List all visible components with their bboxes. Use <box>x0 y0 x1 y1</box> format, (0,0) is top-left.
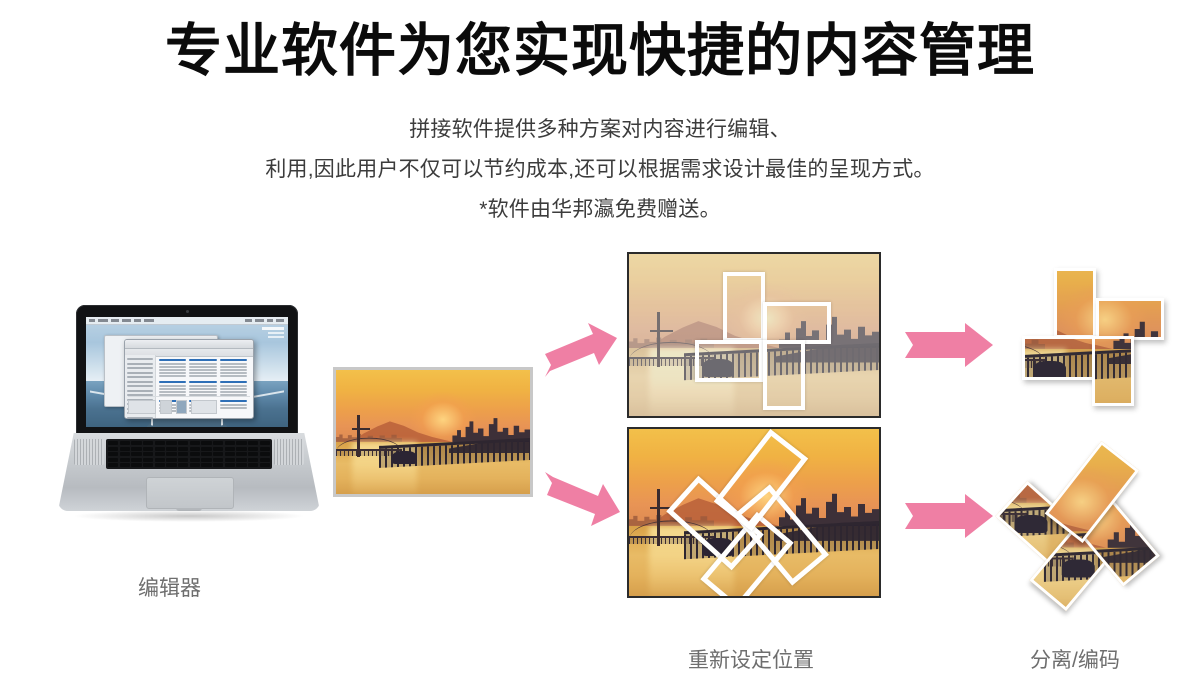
laptop-shadow <box>72 510 306 522</box>
webcam-icon <box>186 310 189 313</box>
laptop-keyboard <box>106 439 272 469</box>
selection-rect-2[interactable] <box>763 302 831 344</box>
speaker-grille-left <box>74 439 104 465</box>
selection-rect-4[interactable] <box>763 340 805 410</box>
tile-4[interactable] <box>1092 336 1134 406</box>
arrow-right-icon-bottom <box>903 493 995 539</box>
browser-window <box>124 339 254 419</box>
macbook-editor-illustration <box>58 305 320 530</box>
infographic-page: 专业软件为您实现快捷的内容管理 拼接软件提供多种方案对内容进行编辑、 利用,因此… <box>0 0 1200 697</box>
board-grid-selection <box>627 252 881 418</box>
laptop-trackpad <box>146 477 234 509</box>
caption-split-encode: 分离/编码 <box>1030 644 1120 674</box>
exploded-tiles-rotated <box>1012 448 1182 603</box>
sunset-bridge-scene <box>336 370 530 494</box>
subtitle-line-1: 拼接软件提供多种方案对内容进行编辑、 <box>0 113 1200 143</box>
arrow-down-right-icon <box>541 462 625 530</box>
page-title: 专业软件为您实现快捷的内容管理 <box>0 20 1200 83</box>
selection-rect-3[interactable] <box>695 340 763 382</box>
board-rotated-selection <box>627 427 881 598</box>
caption-editor: 编辑器 <box>138 572 201 602</box>
exploded-tiles-grid <box>1022 268 1182 418</box>
source-photo <box>333 367 533 497</box>
caption-reposition: 重新设定位置 <box>688 644 814 674</box>
tile-2[interactable] <box>1096 298 1164 340</box>
tile-1[interactable] <box>1054 268 1096 338</box>
arrow-up-right-icon <box>541 321 621 387</box>
selection-rect-1[interactable] <box>723 272 765 342</box>
arrow-right-icon-top <box>903 322 995 368</box>
subtitle-line-3: *软件由华邦瀛免费赠送。 <box>0 193 1200 223</box>
laptop-lid <box>76 305 298 436</box>
subtitle-line-2: 利用,因此用户不仅可以节约成本,还可以根据需求设计最佳的呈现方式。 <box>0 153 1200 183</box>
speaker-grille-right <box>274 439 304 465</box>
window-titlebar <box>125 340 253 349</box>
window-footer-thumbnails <box>128 396 250 415</box>
os-menubar <box>86 317 288 325</box>
laptop-screen <box>86 317 288 427</box>
tile-3[interactable] <box>1022 336 1096 380</box>
desktop-clock <box>262 327 284 340</box>
